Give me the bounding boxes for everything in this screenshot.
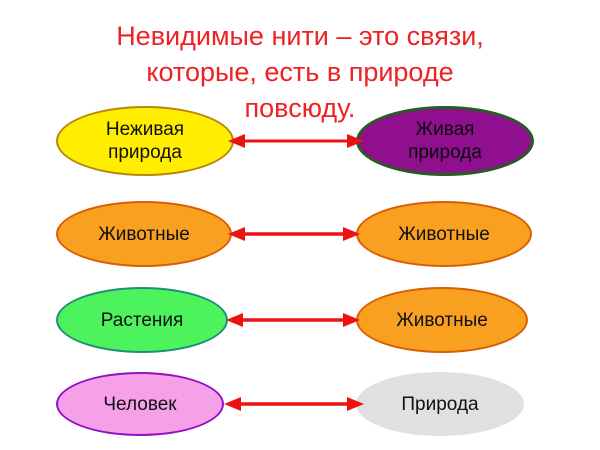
diagram-row-3: Растения Животные: [0, 287, 600, 361]
diagram-row-4: Человек Природа: [0, 372, 600, 446]
title-line-3: повсюду.: [0, 90, 600, 126]
node-label: Животные: [358, 223, 530, 246]
node-rasteniya[interactable]: Растения: [56, 287, 228, 353]
node-label: Животные: [58, 223, 230, 246]
node-zhivotnye-right-2[interactable]: Животные: [356, 287, 528, 353]
node-label: Природа: [356, 393, 524, 416]
node-label: Животные: [358, 309, 526, 332]
node-zhivotnye-right-1[interactable]: Животные: [356, 201, 532, 267]
page-title: Невидимые нити – это связи, которые, ест…: [0, 18, 600, 126]
diagram-row-2: Животные Животные: [0, 201, 600, 275]
node-zhivotnye-left-1[interactable]: Животные: [56, 201, 232, 267]
connector-arrow-row-1: [228, 129, 364, 153]
connector-arrow-row-2: [228, 222, 360, 246]
title-line-2: которые, есть в природе: [0, 54, 600, 90]
connector-arrow-row-3: [226, 308, 360, 332]
node-label: Человек: [58, 393, 222, 416]
node-priroda[interactable]: Природа: [356, 372, 524, 436]
title-line-1: Невидимые нити – это связи,: [0, 18, 600, 54]
connector-arrow-row-4: [224, 392, 364, 416]
node-chelovek[interactable]: Человек: [56, 372, 224, 436]
node-label-line-2: природа: [108, 142, 182, 163]
slide-canvas: Невидимые нити – это связи, которые, ест…: [0, 0, 600, 450]
node-label: Растения: [58, 309, 226, 332]
node-label-line-2: природа: [408, 142, 482, 163]
